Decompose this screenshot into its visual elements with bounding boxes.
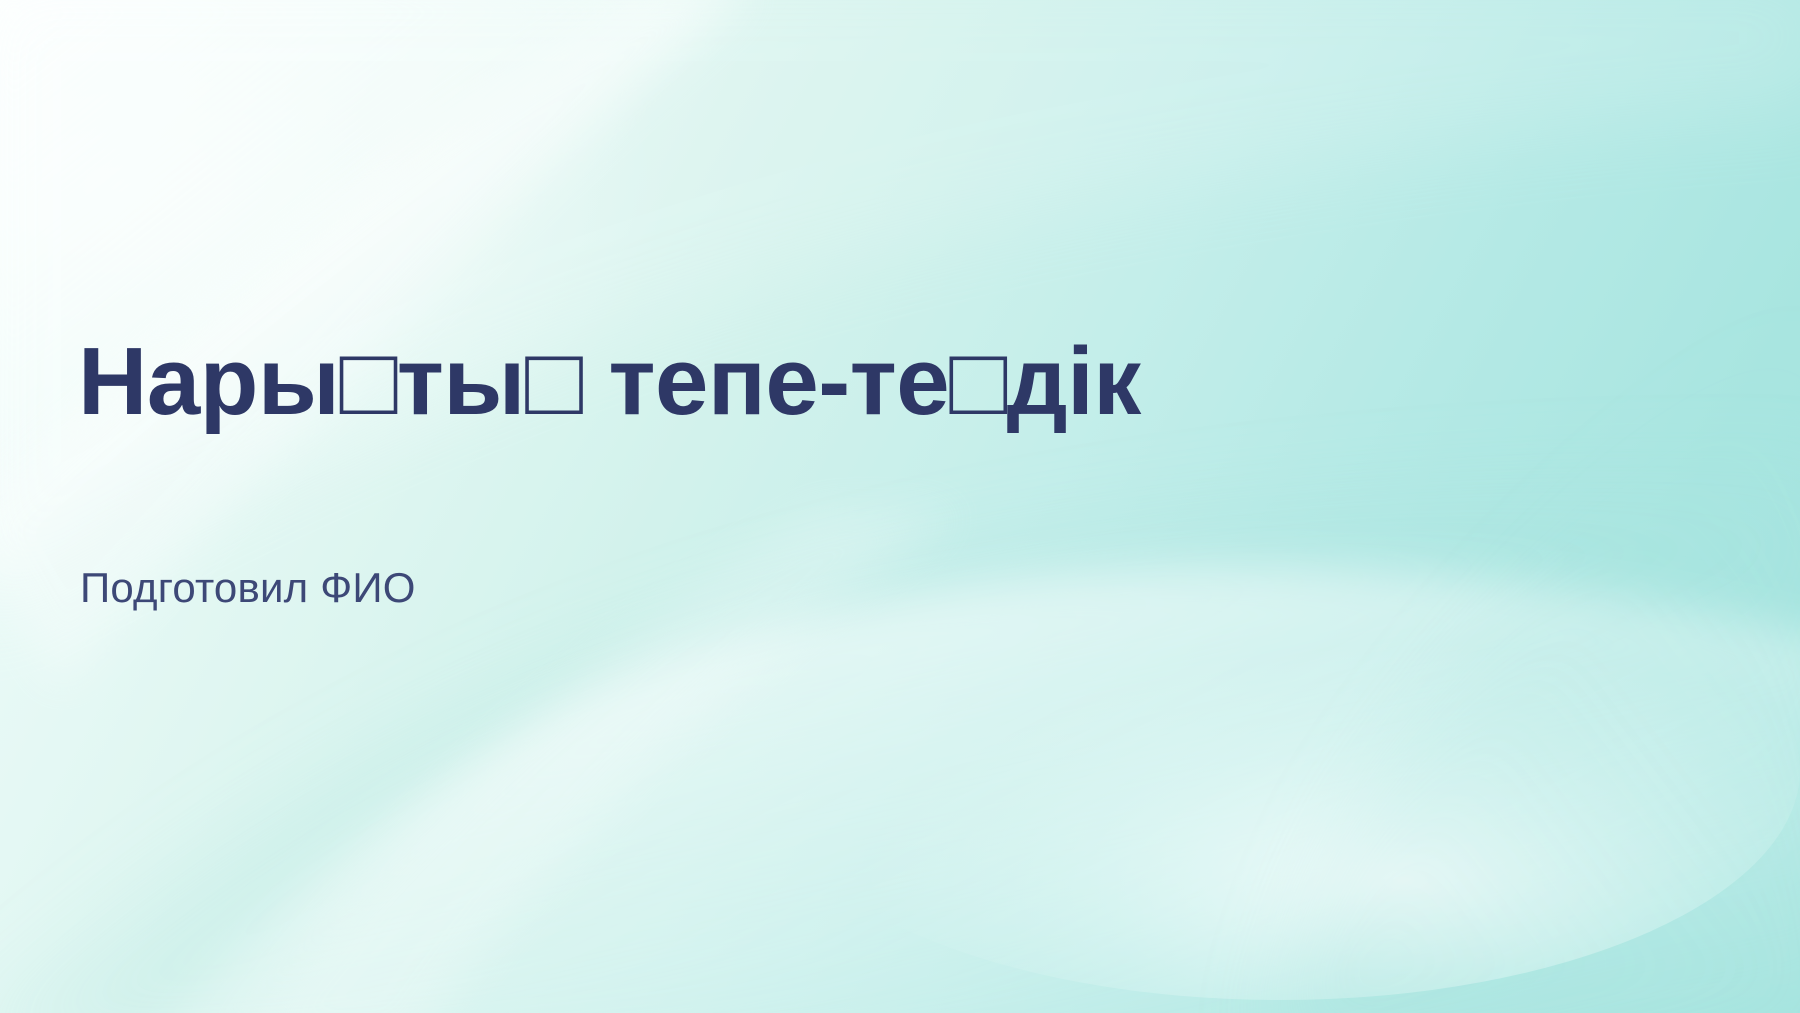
slide-subtitle: Подготовил ФИО [80, 563, 416, 613]
slide-content: Нары□ты□ тепе-те□дік Подготовил ФИО [78, 0, 1718, 1013]
title-slide: Нары□ты□ тепе-те□дік Подготовил ФИО [0, 0, 1800, 1013]
page-title: Нары□ты□ тепе-те□дік [78, 332, 1141, 433]
